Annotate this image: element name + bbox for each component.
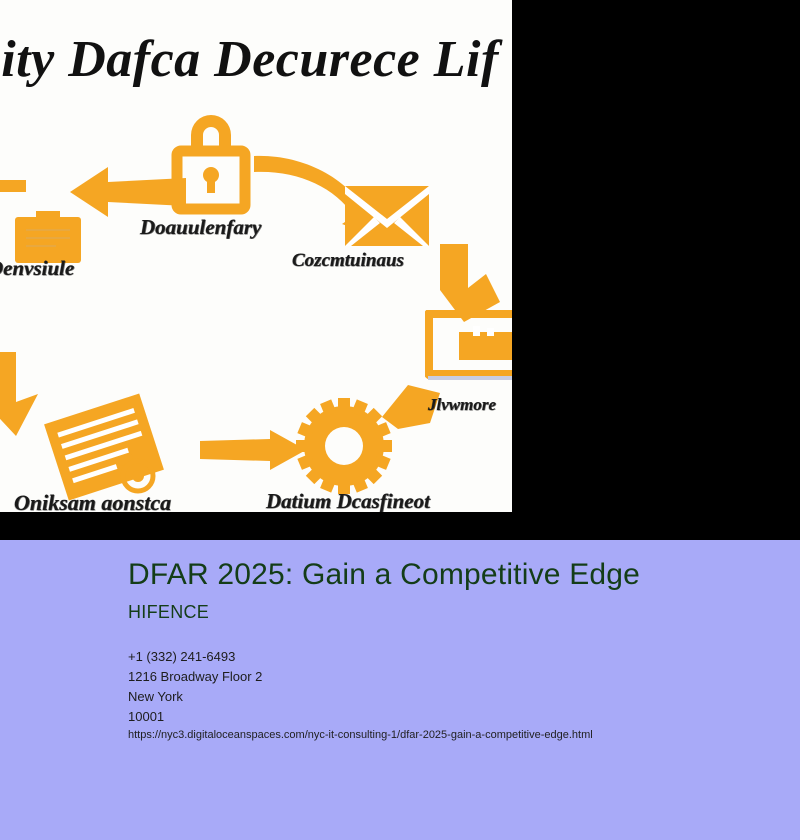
article-info-panel: DFAR 2025: Gain a Competitive Edge HIFEN… [0,540,800,840]
article-hero-illustration: ity Dafca Decurece Lif [0,0,512,512]
arrow-right-bottom-icon [198,428,308,472]
contact-street: 1216 Broadway Floor 2 [128,667,262,687]
gear-icon [296,398,392,494]
lock-icon [163,105,259,215]
diagram-label-continuous: Datiuт Dcasfineot [266,489,430,512]
diagram-label-monitoring: Jlvwmore [428,395,496,415]
brand-name: HIFENCE [128,602,209,623]
envelope-icon [344,185,430,247]
contact-city: New York [128,687,262,707]
monitor-screen-icon [425,310,512,382]
illustration-heading-text: ity Dafca Decurece Lif [0,30,512,89]
contact-zip: 10001 [128,707,262,727]
magnifier-icon [116,452,158,494]
diagram-label-outset: Oniksaт aonstca [14,490,171,512]
hero-media-band: ity Dafca Decurece Lif [0,0,800,540]
source-url-link[interactable]: https://nyc3.digitaloceanspaces.com/nyc-… [128,729,593,741]
diagram-label-deliverables: Denvsiule [0,256,74,281]
page-title: DFAR 2025: Gain a Competitive Edge [128,558,640,592]
diagram-label-documentary: Doauulenfary [140,215,261,240]
contact-block: +1 (332) 241-6493 1216 Broadway Floor 2 … [128,647,262,727]
diagram-label-communications: Cozcmtuinaus [292,250,404,272]
contact-phone[interactable]: +1 (332) 241-6493 [128,647,262,667]
